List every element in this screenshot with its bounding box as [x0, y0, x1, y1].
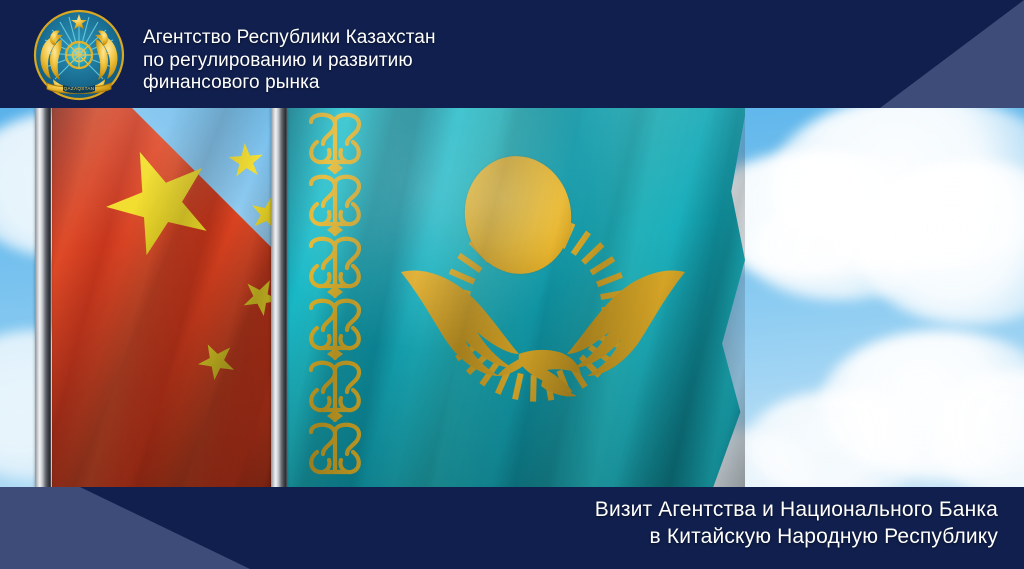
agency-title: Агентство Республики Казахстан по регули… — [143, 27, 436, 95]
footer-diagonal-accent — [0, 487, 250, 569]
kazakhstan-flag — [287, 108, 745, 488]
poster-caption-line-2: в Китайскую Народную Республику — [595, 523, 998, 550]
flag-highlight-overlay — [287, 108, 745, 488]
poster-root: QAZAQSTAN Агентство Республики Казахстан… — [0, 0, 1024, 569]
flagpole — [35, 108, 51, 488]
agency-title-line-2: по регулированию и развитию — [143, 50, 436, 73]
cloud-shape — [745, 205, 935, 300]
kazakhstan-emblem-icon: QAZAQSTAN — [33, 9, 125, 101]
header-diagonal-accent — [824, 0, 1024, 108]
agency-title-line-3: финансового рынка — [143, 72, 436, 95]
china-flag — [52, 108, 278, 488]
flag-highlight-overlay — [52, 108, 278, 488]
flagpole — [271, 108, 287, 488]
poster-caption: Визит Агентства и Национального Банка в … — [595, 496, 998, 550]
poster-caption-line-1: Визит Агентства и Национального Банка — [595, 496, 998, 523]
svg-text:QAZAQSTAN: QAZAQSTAN — [64, 86, 95, 91]
agency-title-line-1: Агентство Республики Казахстан — [143, 27, 436, 50]
